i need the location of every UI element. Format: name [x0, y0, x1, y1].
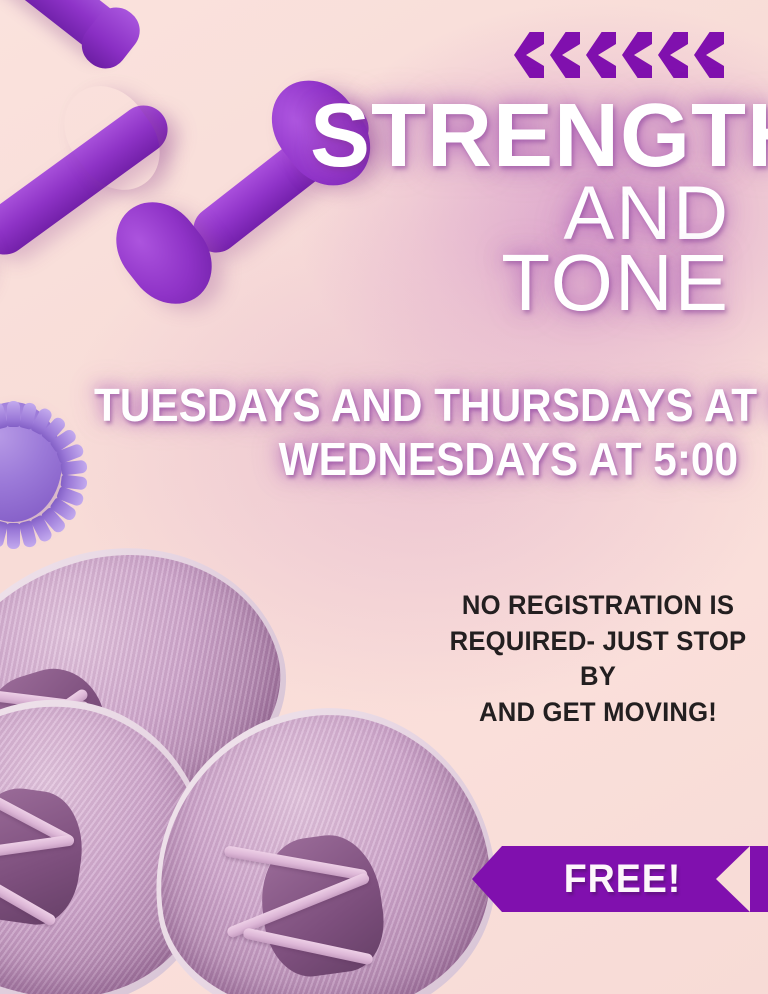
- title-line-tone: TONE: [310, 249, 730, 318]
- chevron-left-icon: [622, 32, 652, 78]
- chevron-left-icon: [514, 32, 544, 78]
- free-badge-label: FREE!: [563, 857, 681, 902]
- chevron-left-icon: [550, 32, 580, 78]
- title-line-strength: STRENGTH: [310, 98, 730, 175]
- note-line-1: NO REGISTRATION IS: [446, 588, 750, 624]
- flyer-poster: STRENGTH AND TONE TUESDAYS AND THURSDAYS…: [0, 0, 768, 994]
- registration-note: NO REGISTRATION IS REQUIRED- JUST STOP B…: [438, 588, 758, 731]
- chevron-left-icon: [658, 32, 688, 78]
- chevron-left-icon: [694, 32, 724, 78]
- schedule-line-1: TUESDAYS AND THURSDAYS AT 9:30: [94, 382, 738, 428]
- page-title: STRENGTH AND TONE: [310, 98, 730, 318]
- ball-spike: [7, 401, 20, 427]
- chevron-left-icon: [586, 32, 616, 78]
- chevron-row: [514, 32, 724, 78]
- schedule-block: TUESDAYS AND THURSDAYS AT 9:30 WEDNESDAY…: [38, 382, 738, 490]
- ball-spike: [7, 523, 20, 549]
- schedule-line-2: WEDNESDAYS AT 5:00: [94, 436, 738, 482]
- sneaker-right-icon: [139, 694, 508, 994]
- title-line-and: AND: [310, 181, 730, 246]
- note-line-2: REQUIRED- JUST STOP BY: [446, 624, 750, 695]
- note-line-3: AND GET MOVING!: [446, 695, 750, 731]
